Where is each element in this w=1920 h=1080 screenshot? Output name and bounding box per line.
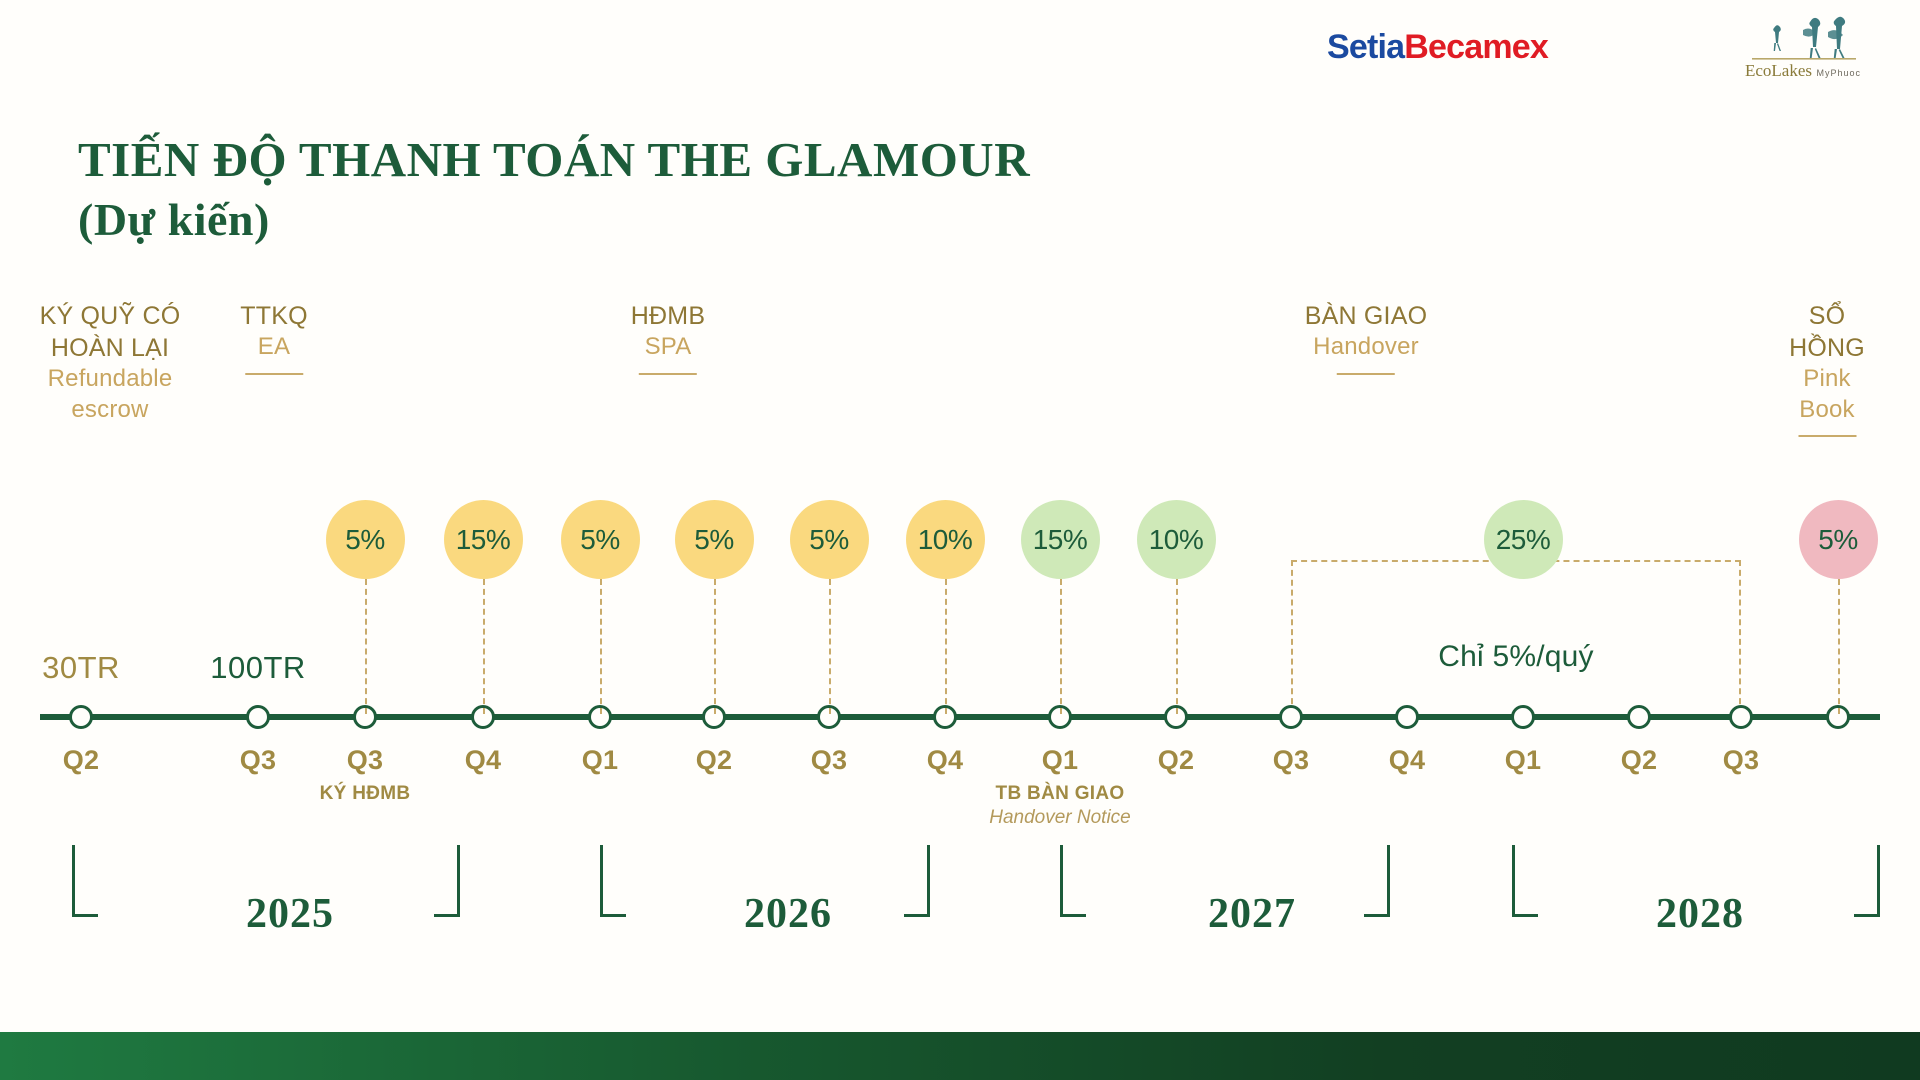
year-bracket-right [1854,845,1880,917]
timeline-node[interactable] [1395,705,1419,729]
milestone-label-en: Handover [1305,332,1427,363]
milestone-label-en: Pink Book [1781,364,1874,425]
quarter-label: Q3 [240,745,277,776]
year-bracket-left [1512,845,1538,917]
payment-percent-bubble[interactable]: 5% [790,500,869,579]
milestone-label-en: SPA [631,332,705,363]
quarter-label: Q3 [1723,745,1760,776]
timeline-node[interactable] [1627,705,1651,729]
year-bracket-right [1364,845,1390,917]
year-bracket-right [904,845,930,917]
amount-label: 30TR [42,650,120,686]
payment-percent-bubble[interactable]: 5% [561,500,640,579]
ecolakes-name: EcoLakes [1745,61,1812,80]
year-bracket-left [72,845,98,917]
node-sublabel: KÝ HĐMB [320,782,411,806]
timeline-node[interactable] [1729,705,1753,729]
quarter-label: Q4 [927,745,964,776]
payment-percent-bubble[interactable]: 5% [1799,500,1878,579]
milestone-header-2: HĐMBSPA [631,300,705,375]
bubble-connector [1176,579,1178,714]
quarter-label: Q2 [1621,745,1658,776]
quarterly-payment-bracket [1291,560,1741,714]
milestone-label-vn: KÝ QUỸ CÓ HOÀN LẠI [40,300,181,364]
year-label: 2025 [246,890,334,938]
crane-birds-icon [1734,16,1872,62]
milestone-header-3: BÀN GIAOHandover [1305,300,1427,375]
payment-percent-bubble[interactable]: 5% [326,500,405,579]
quarter-label: Q4 [465,745,502,776]
timeline-axis [40,714,1880,720]
payment-percent-bubble[interactable]: 15% [444,500,523,579]
milestone-label-vn: BÀN GIAO [1305,300,1427,332]
node-sublabel: TB BÀN GIAOHandover Notice [989,782,1131,830]
timeline-node[interactable] [246,705,270,729]
year-label: 2026 [744,890,832,938]
milestone-underline [245,373,303,375]
milestone-label-vn: TTKQ [240,300,307,332]
timeline-node[interactable] [69,705,93,729]
milestone-label-en: Refundable escrow [40,364,181,425]
node-sublabel-primary: TB BÀN GIAO [989,782,1131,806]
logo-becamex-text: Becamex [1404,28,1548,66]
bubble-connector [365,579,367,714]
quarter-label: Q2 [1158,745,1195,776]
page-title: TIẾN ĐỘ THANH TOÁN THE GLAMOUR (Dự kiến) [78,68,1030,309]
bubble-connector [600,579,602,714]
node-sublabel-secondary: Handover Notice [989,806,1131,830]
amount-label: 100TR [210,650,306,686]
payment-percent-bubble[interactable]: 10% [1137,500,1216,579]
bracket-note-label: Chỉ 5%/quý [1438,640,1593,674]
quarter-label: Q1 [582,745,619,776]
milestone-underline [1337,373,1395,375]
milestone-underline [639,373,697,375]
ecolakes-subtitle: MyPhuoc [1816,68,1861,78]
payment-percent-bubble[interactable]: 25% [1484,500,1563,579]
logo-setia-text: Setia [1327,28,1404,66]
quarter-label: Q1 [1042,745,1079,776]
bubble-connector [714,579,716,714]
bubble-connector [829,579,831,714]
bubble-connector [483,579,485,714]
ecolakes-logo: EcoLakes MyPhuoc [1734,16,1872,94]
year-label: 2027 [1208,890,1296,938]
timeline-node[interactable] [1279,705,1303,729]
timeline-node[interactable] [1511,705,1535,729]
page-title-line2: (Dự kiến) [78,191,1030,249]
setia-becamex-logo: SetiaBecamex [1327,28,1548,67]
year-bracket-right [434,845,460,917]
bubble-connector [1838,579,1840,714]
quarter-label: Q3 [1273,745,1310,776]
milestone-header-1: TTKQEA [240,300,307,375]
milestone-label-en: EA [240,332,307,363]
milestone-label-vn: SỔ HỒNG [1781,300,1874,364]
payment-percent-bubble[interactable]: 15% [1021,500,1100,579]
milestone-label-vn: HĐMB [631,300,705,332]
milestone-header-4: SỔ HỒNGPink Book [1781,300,1874,437]
milestone-header-0: KÝ QUỸ CÓ HOÀN LẠIRefundable escrow [40,300,181,425]
footer-bar [0,1032,1920,1080]
quarter-label: Q1 [1505,745,1542,776]
milestone-underline [1798,435,1856,437]
year-bracket-left [1060,845,1086,917]
quarter-label: Q2 [63,745,100,776]
quarter-label: Q2 [696,745,733,776]
payment-percent-bubble[interactable]: 5% [675,500,754,579]
bubble-connector [945,579,947,714]
quarter-label: Q3 [347,745,384,776]
quarter-label: Q4 [1389,745,1426,776]
payment-percent-bubble[interactable]: 10% [906,500,985,579]
node-sublabel-primary: KÝ HĐMB [320,782,411,806]
quarter-label: Q3 [811,745,848,776]
page-title-line1: TIẾN ĐỘ THANH TOÁN THE GLAMOUR [78,132,1030,187]
bubble-connector [1060,579,1062,714]
year-bracket-left [600,845,626,917]
year-label: 2028 [1656,890,1744,938]
